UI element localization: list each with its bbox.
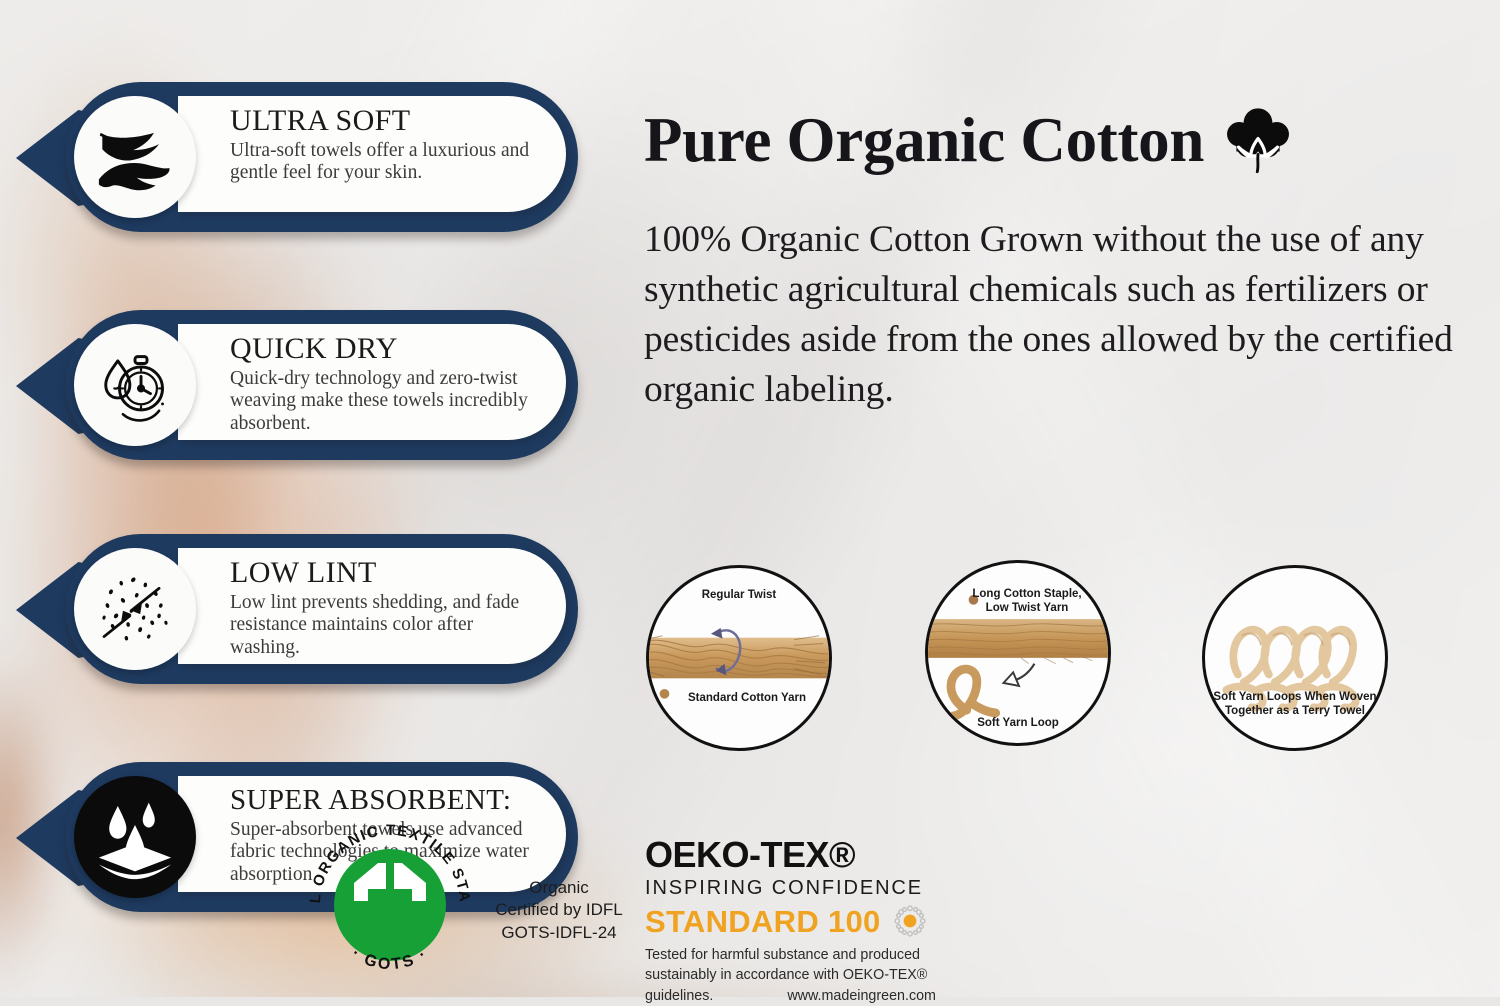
gots-logo: GLOBAL ORGANIC TEXTILE STANDARD · GOTS · xyxy=(300,815,480,995)
feature-title: QUICK DRY xyxy=(230,334,536,365)
oeko-tex-title: OEKO-TEX® xyxy=(645,837,1145,873)
oeko-fine-line3: guidelines. xyxy=(645,986,713,1006)
diagram-regular-twist: Regular Twist Standard Cotton Yarn xyxy=(646,565,832,751)
diagram-label-bottom: Soft Yarn Loop xyxy=(928,716,1108,730)
diagram-low-twist: Long Cotton Staple, Low Twist Yarn Soft … xyxy=(925,560,1111,746)
body-copy: 100% Organic Cotton Grown without the us… xyxy=(644,215,1482,415)
oeko-tex-logo: OEKO-TEX® INSPIRING CONFIDENCE STANDARD … xyxy=(645,837,1145,1006)
diagram-label-bottom: Standard Cotton Yarn xyxy=(649,691,829,705)
feature-description: Low lint prevents shedding, and fade res… xyxy=(230,592,536,660)
feature-card-quick-dry[interactable]: QUICK DRY Quick-dry technology and zero-… xyxy=(8,310,578,460)
feature-description: Ultra-soft towels offer a luxurious and … xyxy=(230,140,536,186)
water-absorption-layers-icon xyxy=(74,776,196,898)
oeko-fine-line1: Tested for harmful substance and produce… xyxy=(645,945,1119,965)
oeko-tex-standard-row: STANDARD 100 xyxy=(645,904,1145,938)
oeko-tex-standard: STANDARD 100 xyxy=(645,906,881,937)
feature-title: LOW LINT xyxy=(230,558,536,589)
oeko-tex-subtitle: INSPIRING CONFIDENCE xyxy=(645,878,1145,898)
cotton-boll-icon xyxy=(1222,104,1294,176)
feature-text-panel: QUICK DRY Quick-dry technology and zero-… xyxy=(178,324,566,440)
page-title: Pure Organic Cotton xyxy=(644,109,1204,172)
feature-text-panel: ULTRA SOFT Ultra-soft towels offer a lux… xyxy=(178,96,566,212)
feature-description: Quick-dry technology and zero-twist weav… xyxy=(230,368,536,436)
diagram-label: Soft Yarn Loops When Woven Together as a… xyxy=(1205,690,1385,719)
gots-certification-text: Organic Certified by IDFL GOTS-IDFL-24 xyxy=(484,877,634,944)
gots-text-line1: Organic xyxy=(484,877,634,899)
diagram-label-top: Long Cotton Staple, Low Twist Yarn xyxy=(928,587,1108,616)
feature-title: ULTRA SOFT xyxy=(230,106,536,137)
yarn-diagram-group: Regular Twist Standard Cotton Yarn xyxy=(630,560,1500,760)
diagram-terry-loops: Soft Yarn Loops When Woven Together as a… xyxy=(1202,565,1388,751)
feature-card-low-lint[interactable]: LOW LINT Low lint prevents shedding, and… xyxy=(8,534,578,684)
droplet-stopwatch-icon xyxy=(74,324,196,446)
lint-particles-icon xyxy=(74,548,196,670)
feature-title: SUPER ABSORBENT: xyxy=(230,786,536,816)
oeko-website: www.madeingreen.com xyxy=(787,986,936,1006)
gots-text-line2: Certified by IDFL xyxy=(484,899,634,921)
sunburst-icon xyxy=(893,904,927,938)
headline-row: Pure Organic Cotton xyxy=(644,104,1294,176)
gots-text-line3: GOTS-IDFL-24 xyxy=(484,922,634,944)
oeko-fine-line2: sustainably in accordance with OEKO-TEX® xyxy=(645,965,1119,985)
feature-text-panel: LOW LINT Low lint prevents shedding, and… xyxy=(178,548,566,664)
feature-card-ultra-soft[interactable]: ULTRA SOFT Ultra-soft towels offer a lux… xyxy=(8,82,578,232)
diagram-label-top: Regular Twist xyxy=(649,588,829,602)
certification-badges: GLOBAL ORGANIC TEXTILE STANDARD · GOTS ·… xyxy=(300,815,1490,995)
feather-in-hand-icon xyxy=(74,96,196,218)
